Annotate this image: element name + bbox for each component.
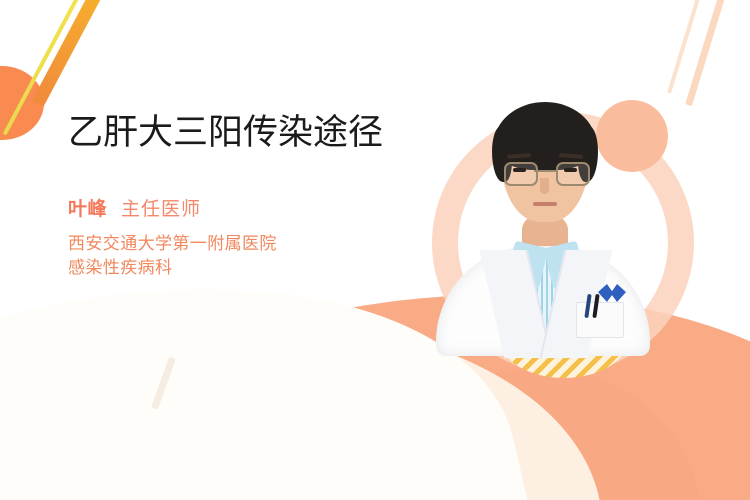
portrait-eye-left: [513, 168, 526, 172]
hospital-name: 西安交通大学第一附属医院: [68, 232, 418, 256]
portrait-nose: [540, 178, 549, 194]
portrait-mouth: [533, 202, 557, 206]
portrait-eye-right: [564, 168, 577, 172]
text-block: 乙肝大三阳传染途径 叶峰 主任医师 西安交通大学第一附属医院 感染性疾病科: [68, 112, 418, 280]
salmon-wave-highlight: [380, 368, 700, 500]
doctor-role: 主任医师: [121, 194, 201, 221]
doctor-portrait: [430, 78, 656, 346]
doctor-affiliation: 西安交通大学第一附属医院 感染性疾病科: [68, 232, 418, 280]
page-title: 乙肝大三阳传染途径: [68, 112, 403, 154]
glasses-bridge: [534, 170, 556, 172]
department-name: 感染性疾病科: [68, 256, 418, 280]
orange-streak-top-left: [32, 0, 109, 107]
doctor-intro-card: 乙肝大三阳传染途径 叶峰 主任医师 西安交通大学第一附属医院 感染性疾病科: [0, 0, 750, 500]
doctor-name: 叶峰: [68, 194, 107, 221]
glasses-lens-left: [504, 162, 538, 186]
portrait-chest-pocket: [576, 302, 624, 338]
faint-streak-lower-left: [151, 356, 176, 409]
doctor-byline: 叶峰 主任医师: [68, 194, 418, 221]
glasses-lens-right: [556, 162, 590, 186]
